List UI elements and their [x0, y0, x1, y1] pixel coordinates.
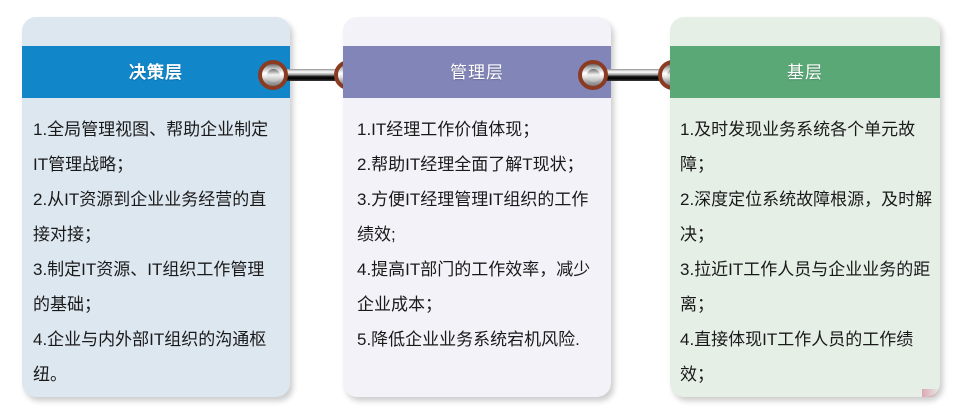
card-grassroots-header: 基层 [670, 46, 940, 98]
card-decision-body: 1.全局管理视图、帮助企业制定IT管理战略； 2.从IT资源到企业业务经营的直接… [22, 98, 290, 397]
connector-ring-left-icon [258, 60, 288, 90]
connector-ring-left-icon [578, 60, 608, 90]
card-management-body: 1.IT经理工作价值体现； 2.帮助IT经理全面了解T现状； 3.方便IT经理管… [343, 98, 611, 397]
card-management-header: 管理层 [343, 46, 611, 98]
diagram-canvas: 决策层 1.全局管理视图、帮助企业制定IT管理战略； 2.从IT资源到企业业务经… [0, 0, 960, 416]
card-grassroots-layer[interactable]: 基层 1.及时发现业务系统各个单元故障； 2.深度定位系统故障根源，及时解决； … [670, 17, 940, 397]
card-management-title: 管理层 [450, 64, 504, 81]
card-management-layer[interactable]: 管理层 1.IT经理工作价值体现； 2.帮助IT经理全面了解T现状； 3.方便I… [343, 17, 611, 397]
card-decision-items: 1.全局管理视图、帮助企业制定IT管理战略； 2.从IT资源到企业业务经营的直接… [33, 112, 278, 392]
card-management-items: 1.IT经理工作价值体现； 2.帮助IT经理全面了解T现状； 3.方便IT经理管… [357, 112, 601, 357]
card-decision-header: 决策层 [22, 46, 290, 98]
card-grassroots-items: 1.及时发现业务系统各个单元故障； 2.深度定位系统故障根源，及时解决； 3.拉… [680, 112, 934, 397]
card-grassroots-title: 基层 [787, 64, 823, 81]
card-decision-layer[interactable]: 决策层 1.全局管理视图、帮助企业制定IT管理战略； 2.从IT资源到企业业务经… [22, 17, 290, 397]
card-decision-title: 决策层 [129, 64, 183, 81]
card-grassroots-body: 1.及时发现业务系统各个单元故障； 2.深度定位系统故障根源，及时解决； 3.拉… [670, 98, 940, 397]
